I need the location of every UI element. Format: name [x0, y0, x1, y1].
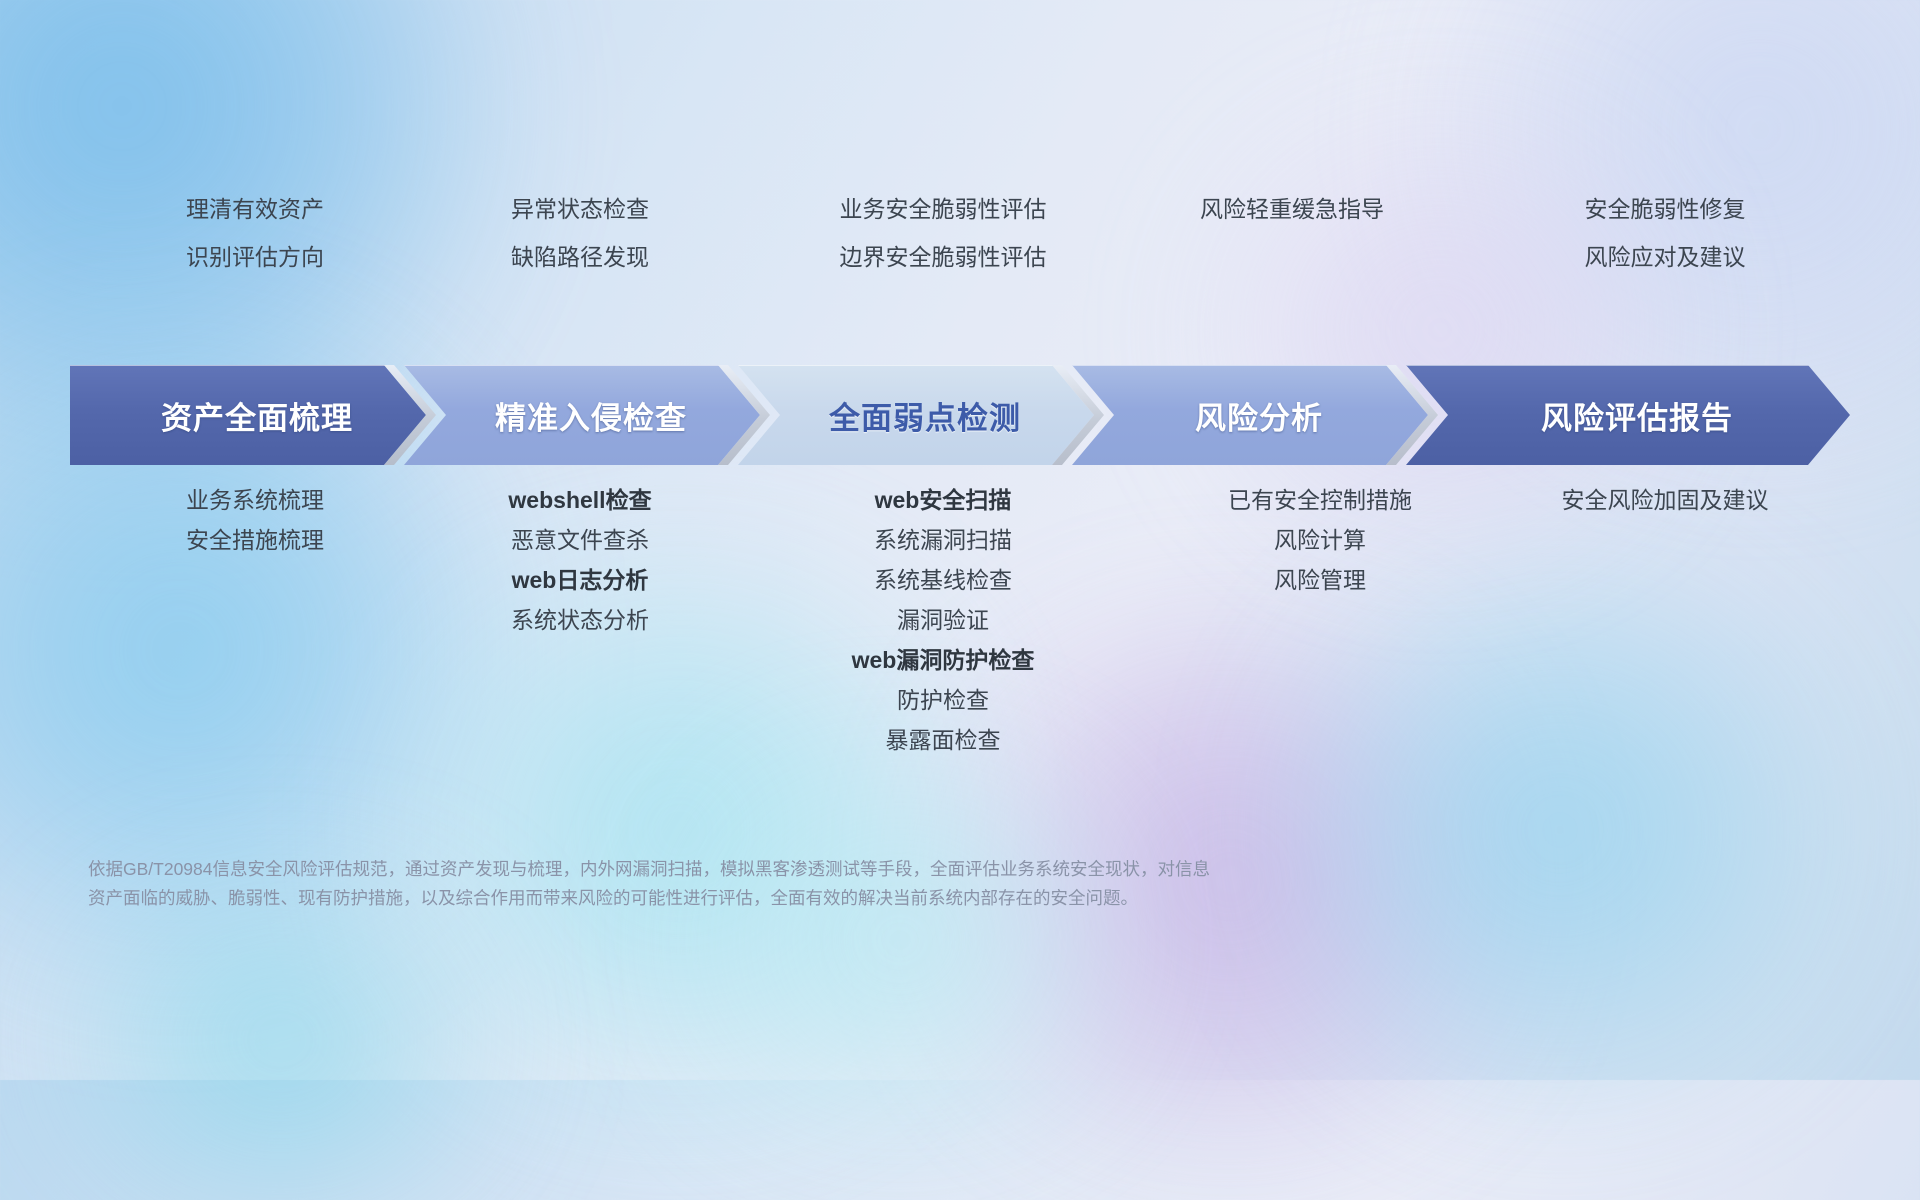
detail-item: 暴露面检查 [733, 720, 1153, 760]
top-note-line: 缺陷路径发现 [380, 233, 780, 281]
chevron-asset-inventory[interactable]: 资产全面梳理 [70, 365, 426, 465]
detail-item: 风险管理 [1110, 560, 1530, 600]
detail-item: 系统基线检查 [733, 560, 1153, 600]
top-notes-intrusion-check: 异常状态检查缺陷路径发现 [380, 185, 780, 281]
process-chevron-band: 资产全面梳理精准入侵检查全面弱点检测风险分析风险评估报告 [70, 365, 1850, 465]
background-blob-bottom [0, 880, 560, 1200]
footer-line-1: 依据GB/T20984信息安全风险评估规范，通过资产发现与梳理，内外网漏洞扫描，… [88, 855, 1588, 884]
chevron-label-intrusion-check: 精准入侵检查 [477, 393, 687, 438]
detail-item: 恶意文件查杀 [370, 520, 790, 560]
detail-item-text: web漏洞防护检查 [852, 647, 1035, 673]
chevron-label-weakness-detection: 全面弱点检测 [811, 393, 1021, 438]
detail-item: web日志分析 [370, 560, 790, 600]
detail-item-text: webshell检查 [508, 487, 651, 513]
detail-item: 防护检查 [733, 680, 1153, 720]
detail-item: 系统漏洞扫描 [733, 520, 1153, 560]
detail-item: 系统状态分析 [370, 600, 790, 640]
top-notes-risk-report: 安全脆弱性修复风险应对及建议 [1465, 185, 1865, 281]
top-notes-risk-analysis: 风险轻重缓急指导 [1092, 185, 1492, 233]
background-blob-right [1180, 120, 1700, 540]
detail-item-text: web安全扫描 [875, 487, 1012, 513]
detail-item-text: web日志分析 [512, 567, 649, 593]
top-note-line: 异常状态检查 [380, 185, 780, 233]
background-blob-bottom-right [1240, 560, 1880, 1100]
detail-item: webshell检查 [370, 480, 790, 520]
detail-item: web安全扫描 [733, 480, 1153, 520]
detail-item: web漏洞防护检查 [733, 640, 1153, 680]
chevron-label-risk-report: 风险评估报告 [1523, 393, 1733, 438]
detail-list-weakness-detection: web安全扫描系统漏洞扫描系统基线检查漏洞验证web漏洞防护检查防护检查暴露面检… [733, 480, 1153, 760]
detail-list-intrusion-check: webshell检查恶意文件查杀web日志分析系统状态分析 [370, 480, 790, 640]
chevron-intrusion-check[interactable]: 精准入侵检查 [404, 365, 760, 465]
detail-list-risk-report: 安全风险加固及建议 [1455, 480, 1875, 520]
chevron-weakness-detection[interactable]: 全面弱点检测 [738, 365, 1094, 465]
top-note-line: 风险应对及建议 [1465, 233, 1865, 281]
chevron-label-risk-analysis: 风险分析 [1177, 393, 1323, 438]
top-note-line: 边界安全脆弱性评估 [743, 233, 1143, 281]
background-blob-center [640, 760, 1160, 1120]
footer-line-2: 资产面临的威胁、脆弱性、现有防护措施，以及综合作用而带来风险的可能性进行评估，全… [88, 884, 1588, 913]
top-note-line: 业务安全脆弱性评估 [743, 185, 1143, 233]
detail-item: 风险计算 [1110, 520, 1530, 560]
top-note-line: 风险轻重缓急指导 [1092, 185, 1492, 233]
footer-description: 依据GB/T20984信息安全风险评估规范，通过资产发现与梳理，内外网漏洞扫描，… [88, 855, 1588, 913]
chevron-label-asset-inventory: 资产全面梳理 [143, 393, 353, 438]
chevron-risk-analysis[interactable]: 风险分析 [1072, 365, 1428, 465]
top-notes-weakness-detection: 业务安全脆弱性评估边界安全脆弱性评估 [743, 185, 1143, 281]
detail-item: 安全风险加固及建议 [1455, 480, 1875, 520]
detail-item: 漏洞验证 [733, 600, 1153, 640]
top-note-line: 安全脆弱性修复 [1465, 185, 1865, 233]
chevron-risk-report[interactable]: 风险评估报告 [1406, 365, 1850, 465]
